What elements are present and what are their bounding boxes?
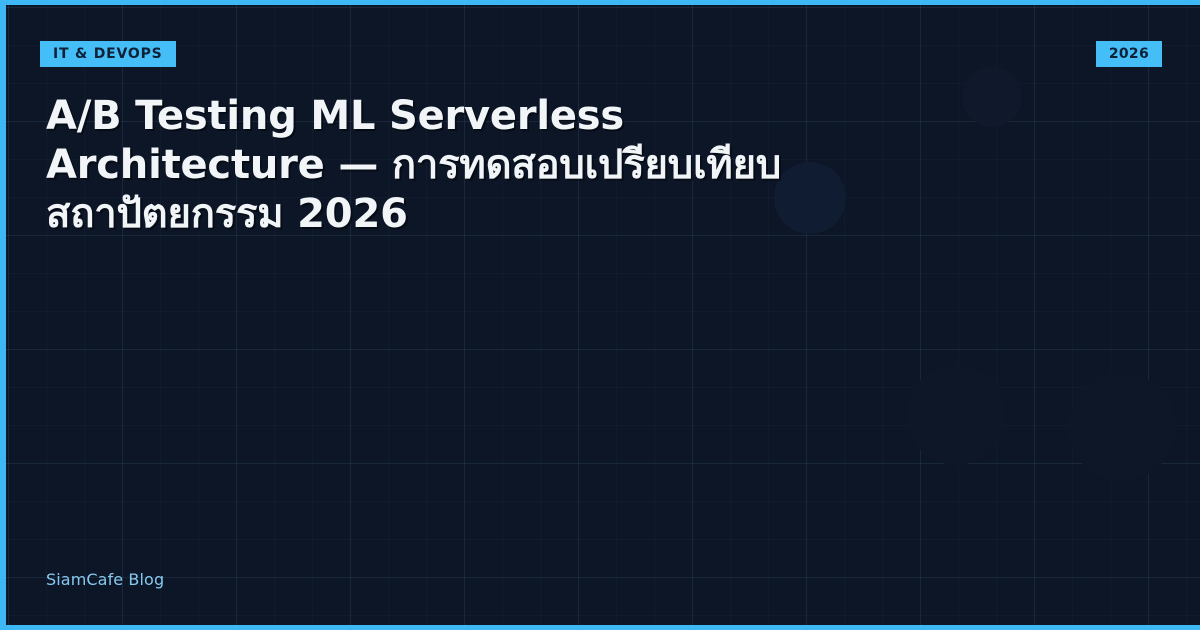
year-badge: 2026	[1096, 41, 1162, 67]
category-badge: IT & DEVOPS	[40, 41, 176, 67]
card-footer: SiamCafe Blog	[46, 570, 1160, 589]
page-title: A/B Testing ML Serverless Architecture —…	[46, 92, 816, 238]
badge-row: IT & DEVOPS 2026	[40, 41, 1160, 67]
content-spacer	[40, 238, 1160, 570]
site-name: SiamCafe Blog	[46, 570, 164, 589]
card-content: IT & DEVOPS 2026 A/B Testing ML Serverle…	[6, 5, 1200, 625]
og-card: IT & DEVOPS 2026 A/B Testing ML Serverle…	[0, 0, 1200, 630]
